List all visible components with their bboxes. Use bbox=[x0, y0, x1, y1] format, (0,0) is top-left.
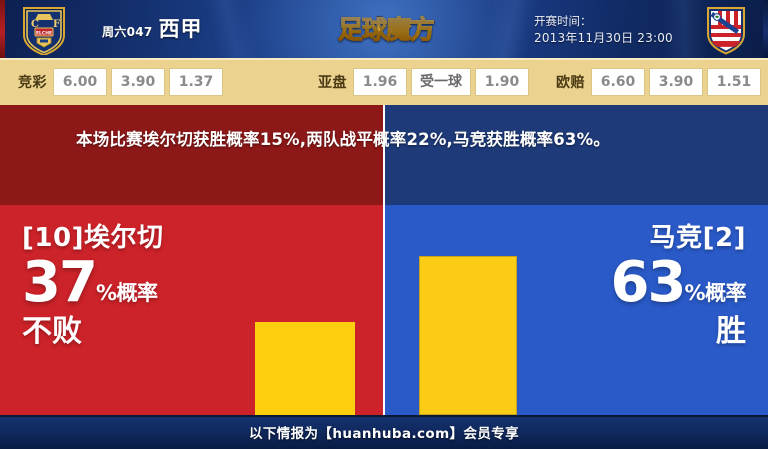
odds-cell-away[interactable]: 1.90 bbox=[476, 69, 528, 95]
svg-text:F: F bbox=[53, 19, 60, 30]
svg-text:ELCHE: ELCHE bbox=[36, 31, 52, 37]
odds-cell-home[interactable]: 6.00 bbox=[54, 69, 106, 95]
odds-bar: 竞彩 6.00 3.90 1.37 亚盘 1.96 受一球 1.90 欧赔 6.… bbox=[0, 58, 768, 105]
footer-top-border bbox=[0, 415, 768, 417]
header-right-edge bbox=[763, 0, 768, 58]
match-probability-infographic: C F ELCHE 周六047 西甲 足球魔方 开赛时间： 2013年11月30… bbox=[0, 0, 768, 449]
odds-group-label: 竞彩 bbox=[18, 72, 47, 92]
home-team-block: [10]埃尔切 37 %概率 不败 bbox=[22, 223, 163, 349]
header-bar: C F ELCHE 周六047 西甲 足球魔方 开赛时间： 2013年11月30… bbox=[0, 0, 768, 58]
footer-bar: 以下情报为【huanhuba.com】会员专享 bbox=[0, 415, 768, 449]
home-result-label: 不败 bbox=[22, 315, 163, 349]
home-team-name: [10]埃尔切 bbox=[22, 223, 163, 253]
odds-cell-away[interactable]: 1.37 bbox=[170, 69, 222, 95]
header-left-edge bbox=[0, 0, 5, 58]
kickoff-label: 开赛时间： bbox=[534, 13, 673, 30]
away-team-name: 马竞[2] bbox=[611, 223, 746, 253]
odds-bar-highlight bbox=[0, 58, 768, 60]
brand-text: 足球魔方 bbox=[338, 17, 434, 42]
away-percent-value: 63 bbox=[611, 255, 685, 311]
odds-group-label: 亚盘 bbox=[318, 72, 347, 92]
odds-cell-handicap[interactable]: 受一球 bbox=[412, 69, 470, 95]
brand-text-part1: 足球 bbox=[338, 15, 386, 44]
odds-cell-away[interactable]: 1.51 bbox=[708, 69, 760, 95]
home-percent-value: 37 bbox=[22, 255, 96, 311]
probability-chart-area: 本场比赛埃尔切获胜概率15%,两队战平概率22%,马竞获胜概率63%。 [10]… bbox=[0, 105, 768, 415]
odds-cell-draw[interactable]: 3.90 bbox=[650, 69, 702, 95]
odds-group-label: 欧赔 bbox=[556, 72, 585, 92]
summary-banner-right bbox=[384, 105, 768, 205]
odds-group-jingcai: 竞彩 6.00 3.90 1.37 bbox=[18, 69, 222, 95]
odds-group-asian-handicap: 亚盘 1.96 受一球 1.90 bbox=[318, 69, 528, 95]
kickoff-time: 2013年11月30日 23:00 bbox=[534, 30, 673, 47]
summary-banner-left bbox=[0, 105, 384, 205]
footer-notice-text: 以下情报为【huanhuba.com】会员专享 bbox=[249, 422, 519, 442]
home-probability-bar bbox=[255, 322, 355, 415]
odds-cell-draw[interactable]: 3.90 bbox=[112, 69, 164, 95]
elche-crest-icon: C F ELCHE bbox=[18, 5, 70, 55]
panel-divider bbox=[383, 105, 385, 415]
odds-cell-home[interactable]: 1.96 bbox=[354, 69, 406, 95]
away-percent-row: 63 %概率 bbox=[611, 255, 746, 311]
home-percent-suffix: %概率 bbox=[96, 283, 158, 311]
match-round: 周六047 bbox=[102, 23, 153, 40]
odds-cell-home[interactable]: 6.60 bbox=[592, 69, 644, 95]
kickoff-info: 开赛时间： 2013年11月30日 23:00 bbox=[534, 13, 673, 47]
odds-group-european: 欧赔 6.60 3.90 1.51 bbox=[556, 69, 760, 95]
summary-banner-text: 本场比赛埃尔切获胜概率15%,两队战平概率22%,马竞获胜概率63%。 bbox=[76, 125, 716, 155]
brand-text-part2: 魔方 bbox=[386, 15, 434, 44]
away-team-block: 马竞[2] 63 %概率 胜 bbox=[611, 223, 746, 349]
league-name: 西甲 bbox=[159, 13, 203, 43]
away-percent-suffix: %概率 bbox=[684, 283, 746, 311]
away-probability-bar bbox=[419, 256, 517, 415]
atletico-madrid-crest-icon bbox=[700, 5, 752, 55]
away-result-label: 胜 bbox=[611, 315, 746, 349]
site-brand-logo[interactable]: 足球魔方 bbox=[326, 7, 446, 51]
match-meta: 周六047 西甲 bbox=[102, 13, 203, 43]
home-percent-row: 37 %概率 bbox=[22, 255, 163, 311]
